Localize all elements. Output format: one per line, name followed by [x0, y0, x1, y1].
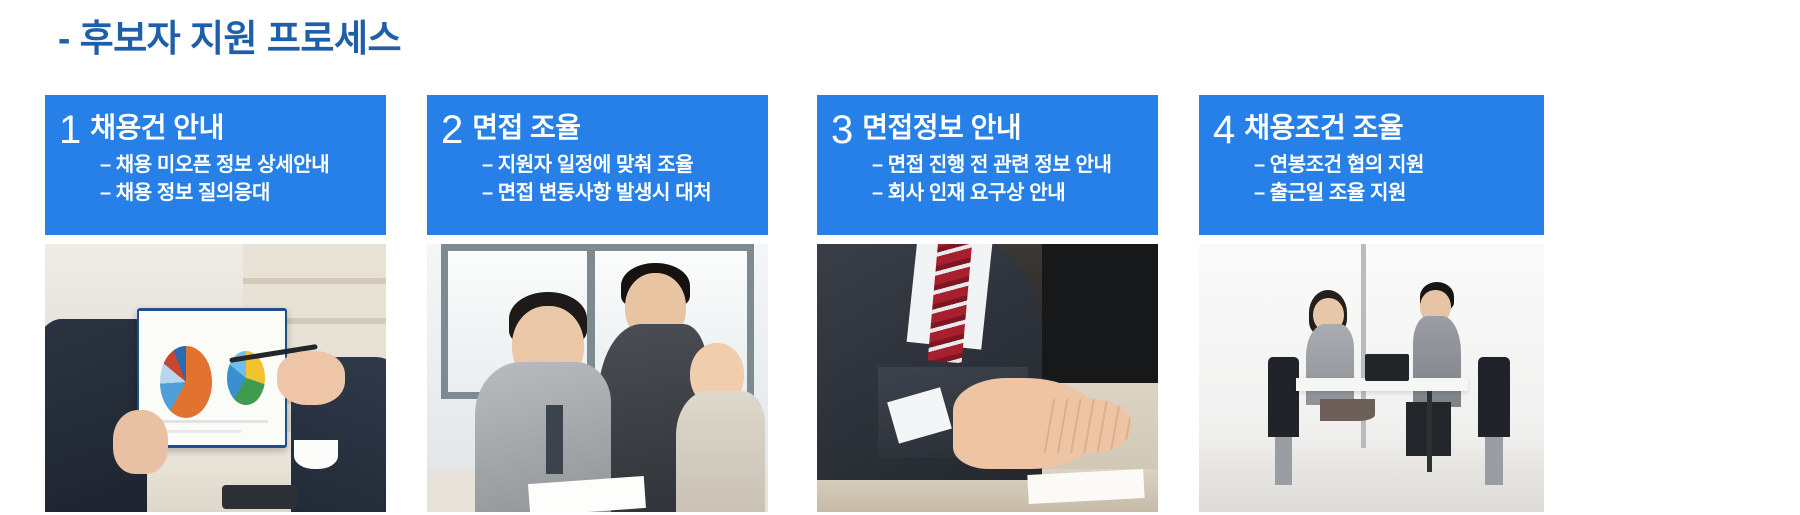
- bullet-text: 회사 인재 요구상 안내: [888, 182, 1065, 204]
- card-bullets-2: –지원자 일정에 맞춰 조율 –면접 변동사항 발생시 대처: [441, 151, 760, 208]
- card-title-1: 채용건 안내: [90, 111, 224, 142]
- person-man-body: [1413, 316, 1461, 407]
- pie-chart-large: [160, 346, 213, 418]
- person-woman-body: [1306, 324, 1354, 404]
- bullet-item: –면접 진행 전 관련 정보 안내: [872, 151, 1150, 179]
- process-card-1[interactable]: 1 채용건 안내 –채용 미오픈 정보 상세안내 –채용 정보 질의응대: [45, 95, 386, 512]
- chair-right-back: [1478, 357, 1509, 437]
- bullet-item: –지원자 일정에 맞춰 조율: [482, 151, 760, 179]
- card-bullets-4: –연봉조건 협의 지원 –출근일 조율 지원: [1213, 151, 1536, 208]
- bullet-item: –채용 정보 질의응대: [100, 179, 378, 207]
- step-number-2: 2: [441, 111, 463, 149]
- bullet-text: 출근일 조율 지원: [1270, 182, 1406, 204]
- photo-office-negotiation: [1199, 244, 1544, 512]
- bullet-text: 면접 변동사항 발생시 대처: [498, 182, 711, 204]
- bullet-dash-icon: –: [100, 179, 111, 207]
- process-card-4[interactable]: 4 채용조건 조율 –연봉조건 협의 지원 –출근일 조율 지원: [1199, 95, 1544, 512]
- bullet-item: –회사 인재 요구상 안내: [872, 179, 1150, 207]
- bullet-text: 채용 미오픈 정보 상세안내: [116, 154, 329, 176]
- bullet-text: 채용 정보 질의응대: [116, 182, 270, 204]
- card-header-top-3: 3 면접정보 안내: [831, 111, 1150, 149]
- bullet-dash-icon: –: [1254, 151, 1265, 179]
- hand-right: [277, 351, 345, 405]
- document-paper: [1028, 469, 1145, 504]
- card-header-top-2: 2 면접 조율: [441, 111, 760, 149]
- card-header-4: 4 채용조건 조율 –연봉조건 협의 지원 –출근일 조율 지원: [1199, 95, 1544, 235]
- bullet-dash-icon: –: [482, 179, 493, 207]
- bullet-dash-icon: –: [100, 151, 111, 179]
- card-bullets-3: –면접 진행 전 관련 정보 안내 –회사 인재 요구상 안내: [831, 151, 1150, 208]
- bullet-item: –채용 미오픈 정보 상세안내: [100, 151, 378, 179]
- photo-team-meeting: [427, 244, 768, 512]
- hand-fingers: [1042, 399, 1131, 453]
- bullet-item: –연봉조건 협의 지원: [1254, 151, 1536, 179]
- card-title-2: 면접 조율: [472, 111, 580, 142]
- table-leg: [1427, 391, 1432, 471]
- chair-left-back: [1268, 357, 1299, 437]
- card-header-2: 2 면접 조율 –지원자 일정에 맞춰 조율 –면접 변동사항 발생시 대처: [427, 95, 768, 235]
- laptop-shape: [1365, 354, 1410, 381]
- card-header-top-1: 1 채용건 안내: [59, 111, 378, 149]
- bullet-item: –출근일 조율 지원: [1254, 179, 1536, 207]
- process-cards-row: 1 채용건 안내 –채용 미오픈 정보 상세안내 –채용 정보 질의응대: [0, 95, 1800, 515]
- process-card-3[interactable]: 3 면접정보 안내 –면접 진행 전 관련 정보 안내 –회사 인재 요구상 안…: [817, 95, 1158, 512]
- chair-right-legs: [1485, 437, 1502, 485]
- card-title-3: 면접정보 안내: [862, 111, 1021, 142]
- person-woman-legs: [1320, 399, 1375, 420]
- dark-backdrop: [1042, 244, 1158, 383]
- page-title: - 후보자 지원 프로세스: [58, 8, 401, 62]
- bullet-dash-icon: –: [872, 151, 883, 179]
- necktie-shape: [546, 405, 563, 475]
- step-number-4: 4: [1213, 111, 1235, 149]
- bullet-text: 면접 진행 전 관련 정보 안내: [888, 154, 1112, 176]
- bullet-dash-icon: –: [482, 151, 493, 179]
- step-number-3: 3: [831, 111, 853, 149]
- bullet-dash-icon: –: [872, 179, 883, 207]
- phone-shape: [222, 485, 297, 509]
- text-line: [151, 420, 268, 423]
- card-title-4: 채용조건 조율: [1244, 111, 1403, 142]
- hand-left: [113, 410, 168, 474]
- photo-chart-presentation: [45, 244, 386, 512]
- card-header-top-4: 4 채용조건 조율: [1213, 111, 1536, 149]
- bullet-dash-icon: –: [1254, 179, 1265, 207]
- coffee-cup: [294, 440, 338, 469]
- photo-handshake: [817, 244, 1158, 512]
- card-bullets-1: –채용 미오픈 정보 상세안내 –채용 정보 질의응대: [59, 151, 378, 208]
- step-number-1: 1: [59, 111, 81, 149]
- bullet-text: 지원자 일정에 맞춰 조율: [498, 154, 693, 176]
- chair-left-legs: [1275, 437, 1292, 485]
- bullet-item: –면접 변동사항 발생시 대처: [482, 179, 760, 207]
- person-woman-body: [676, 391, 765, 512]
- process-card-2[interactable]: 2 면접 조율 –지원자 일정에 맞춰 조율 –면접 변동사항 발생시 대처: [427, 95, 768, 512]
- bullet-text: 연봉조건 협의 지원: [1270, 154, 1424, 176]
- card-header-1: 1 채용건 안내 –채용 미오픈 정보 상세안내 –채용 정보 질의응대: [45, 95, 386, 235]
- card-header-3: 3 면접정보 안내 –면접 진행 전 관련 정보 안내 –회사 인재 요구상 안…: [817, 95, 1158, 235]
